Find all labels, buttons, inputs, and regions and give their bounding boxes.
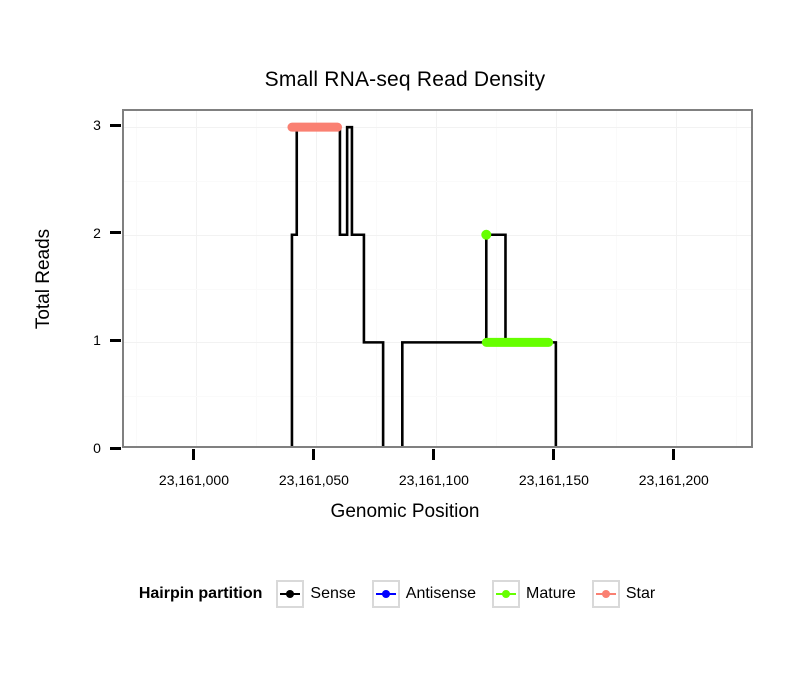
legend-entry-star[interactable]: Star bbox=[592, 580, 665, 608]
x-axis-title: Genomic Position bbox=[0, 501, 810, 523]
y-axis-tick bbox=[110, 447, 121, 450]
series-line-sense bbox=[124, 127, 753, 448]
legend-entry-antisense[interactable]: Antisense bbox=[372, 580, 486, 608]
legend-key-dot bbox=[602, 590, 610, 598]
x-axis-tick bbox=[672, 449, 675, 460]
x-axis-tick bbox=[432, 449, 435, 460]
chart-root: Small RNA-seq Read Density Total Reads 2… bbox=[0, 0, 810, 690]
legend-key-sense bbox=[276, 580, 304, 608]
x-axis-tick-label: 23,161,100 bbox=[399, 472, 469, 488]
y-axis-tick bbox=[110, 339, 121, 342]
legend-key-antisense bbox=[372, 580, 400, 608]
legend-key-dot bbox=[502, 590, 510, 598]
legend-label: Sense bbox=[310, 585, 355, 603]
x-axis-tick-label: 23,161,050 bbox=[279, 472, 349, 488]
x-axis-tick-label: 23,161,000 bbox=[159, 472, 229, 488]
x-axis-tick-label: 23,161,150 bbox=[519, 472, 589, 488]
legend-key-dot bbox=[286, 590, 294, 598]
legend-key-mature bbox=[492, 580, 520, 608]
chart-title: Small RNA-seq Read Density bbox=[0, 68, 810, 92]
y-axis-title: Total Reads bbox=[33, 179, 55, 379]
y-axis-tick-label: 2 bbox=[88, 225, 106, 241]
plot-panel-inner bbox=[124, 111, 751, 446]
y-axis-tick-label: 3 bbox=[88, 117, 106, 133]
legend-label: Antisense bbox=[406, 585, 476, 603]
y-axis-tick-label: 1 bbox=[88, 332, 106, 348]
legend-entry-mature[interactable]: Mature bbox=[492, 580, 586, 608]
legend: Hairpin partition SenseAntisenseMatureSt… bbox=[0, 580, 810, 608]
legend-label: Star bbox=[626, 585, 655, 603]
legend-title: Hairpin partition bbox=[139, 585, 263, 603]
plot-data-layer bbox=[124, 111, 753, 448]
annotation-point-mature bbox=[481, 230, 491, 240]
x-axis-tick bbox=[552, 449, 555, 460]
legend-key-dot bbox=[382, 590, 390, 598]
legend-key-star bbox=[592, 580, 620, 608]
legend-entry-sense[interactable]: Sense bbox=[276, 580, 365, 608]
x-axis-tick bbox=[312, 449, 315, 460]
y-axis-tick bbox=[110, 231, 121, 234]
y-axis-tick bbox=[110, 124, 121, 127]
y-axis-title-label: Total Reads bbox=[33, 179, 55, 379]
plot-panel bbox=[122, 109, 753, 448]
x-axis-tick bbox=[192, 449, 195, 460]
legend-label: Mature bbox=[526, 585, 576, 603]
y-axis-tick-label: 0 bbox=[88, 440, 106, 456]
x-axis-tick-label: 23,161,200 bbox=[639, 472, 709, 488]
